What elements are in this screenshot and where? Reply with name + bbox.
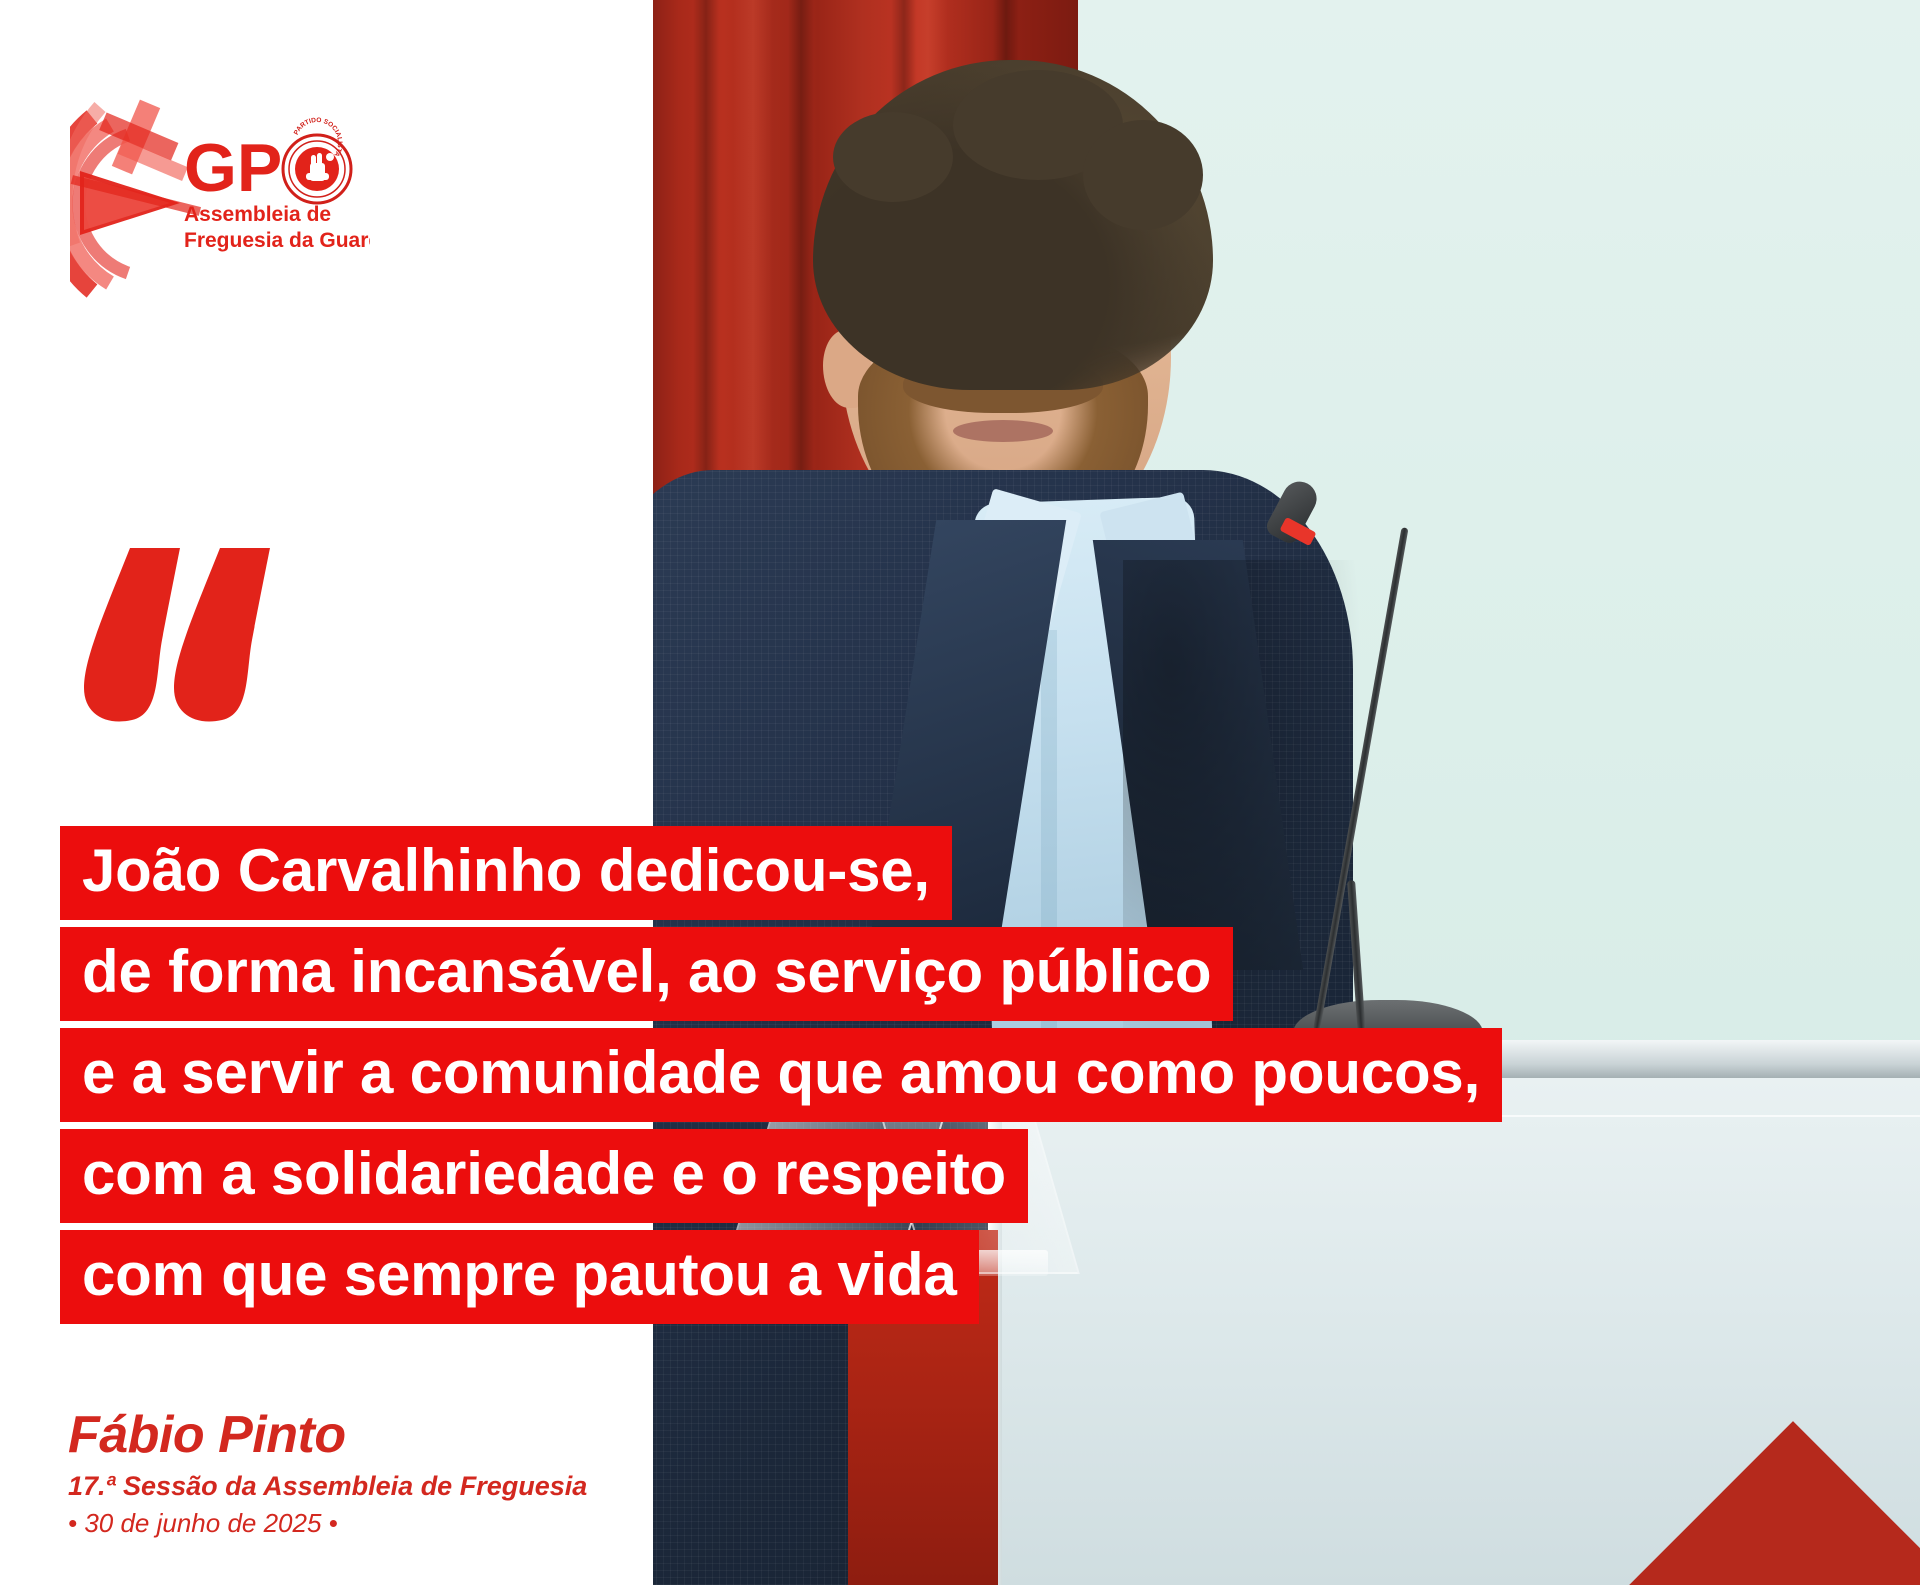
logo-subtitle-line2: Freguesia da Guarda (184, 229, 370, 252)
quote-line: com a solidariedade e o respeito (60, 1129, 1028, 1223)
logo-subtitle-line1: Assembleia de (184, 203, 331, 226)
quote-line: de forma incansável, ao serviço público (60, 927, 1233, 1021)
quote-line: e a servir a comunidade que amou como po… (60, 1028, 1502, 1122)
gps-logo[interactable]: GPS PARTIDO SOCIALISTA Assembleia de Fr (70, 95, 370, 300)
session-date: • 30 de junho de 2025 • (68, 1508, 587, 1539)
session-label: 17.ª Sessão da Assembleia de Freguesia (68, 1471, 587, 1502)
social-media-quote-card: GPS PARTIDO SOCIALISTA Assembleia de Fr (0, 0, 1920, 1585)
quote-line: com que sempre pautou a vida (60, 1230, 979, 1324)
speaker-name: Fábio Pinto (68, 1408, 587, 1463)
quote-line: João Carvalhinho dedicou-se, (60, 826, 952, 920)
quote-text-block: João Carvalhinho dedicou-se, de forma in… (60, 826, 1502, 1331)
speaker-photo (653, 0, 1920, 1585)
attribution-block: Fábio Pinto 17.ª Sessão da Assembleia de… (68, 1408, 587, 1539)
logo-arcs-icon (70, 100, 201, 291)
quotation-mark-icon (72, 548, 302, 728)
